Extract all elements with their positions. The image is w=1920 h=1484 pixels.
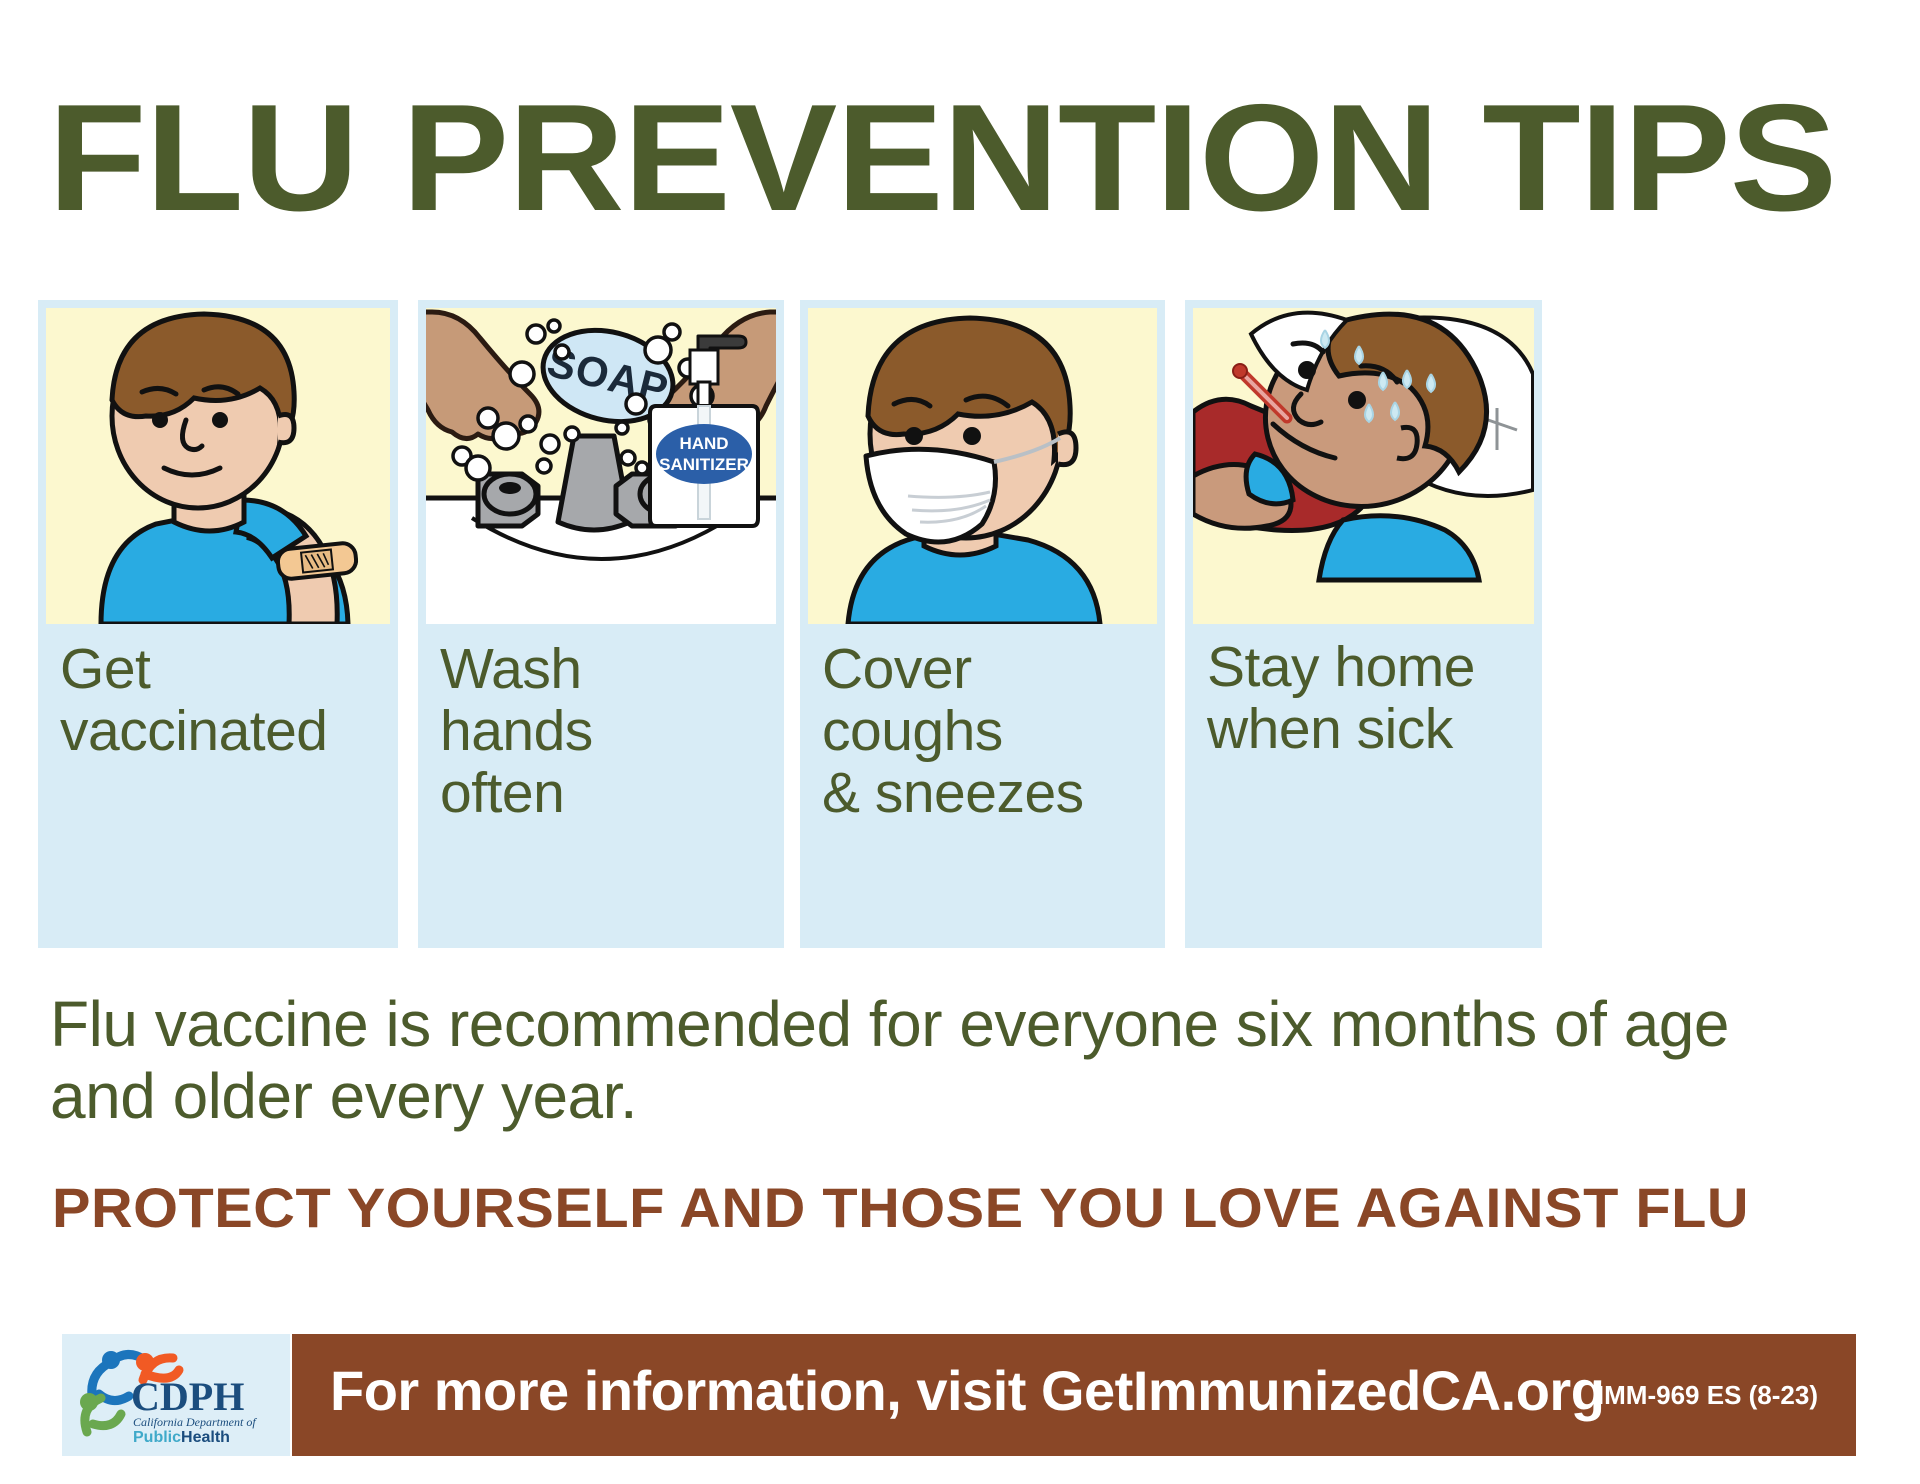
footer: CDPH California Department of PublicHeal… xyxy=(0,1334,1920,1460)
imm-code: IMM-969 ES (8-23) xyxy=(1597,1380,1818,1411)
tip-panel-get-vaccinated: Get vaccinated xyxy=(38,300,398,948)
info-bar: For more information, visit GetImmunized… xyxy=(292,1334,1856,1456)
page-title: FLU PREVENTION TIPS xyxy=(48,82,1920,234)
tip-caption: Stay home when sick xyxy=(1207,636,1536,760)
hand-sanitizer-bottle: HAND SANITIZER xyxy=(646,320,764,530)
cdph-subtitle-line2: PublicHealth xyxy=(133,1429,230,1446)
tip-caption: Cover coughs & sneezes xyxy=(822,638,1159,824)
cdph-subtitle-line1: California Department of xyxy=(133,1415,257,1429)
illustration-boy-with-mask xyxy=(808,308,1157,624)
tip-caption: Wash hands often xyxy=(440,638,778,824)
tips-panel-row: Get vaccinated xyxy=(38,300,1882,950)
tip-panel-stay-home: Stay home when sick xyxy=(1185,300,1542,948)
svg-text:SANITIZER: SANITIZER xyxy=(659,455,749,474)
body-text: Flu vaccine is recommended for everyone … xyxy=(50,988,1850,1132)
bandage-icon xyxy=(277,542,358,580)
illustration-boy-with-bandage xyxy=(46,308,390,624)
tip-caption: Get vaccinated xyxy=(60,638,392,762)
protect-headline: PROTECT YOURSELF AND THOSE YOU LOVE AGAI… xyxy=(52,1178,1920,1238)
illustration-sick-boy-in-bed xyxy=(1193,308,1534,624)
cdph-logo: CDPH California Department of PublicHeal… xyxy=(62,1334,290,1456)
tip-panel-wash-hands: SOAP Wash hands often xyxy=(418,300,784,948)
cdph-acronym: CDPH xyxy=(131,1374,244,1419)
svg-text:HAND: HAND xyxy=(679,434,728,453)
tip-panel-cover-coughs: Cover coughs & sneezes xyxy=(800,300,1165,948)
info-bar-cta: For more information, visit GetImmunized… xyxy=(330,1360,1604,1422)
